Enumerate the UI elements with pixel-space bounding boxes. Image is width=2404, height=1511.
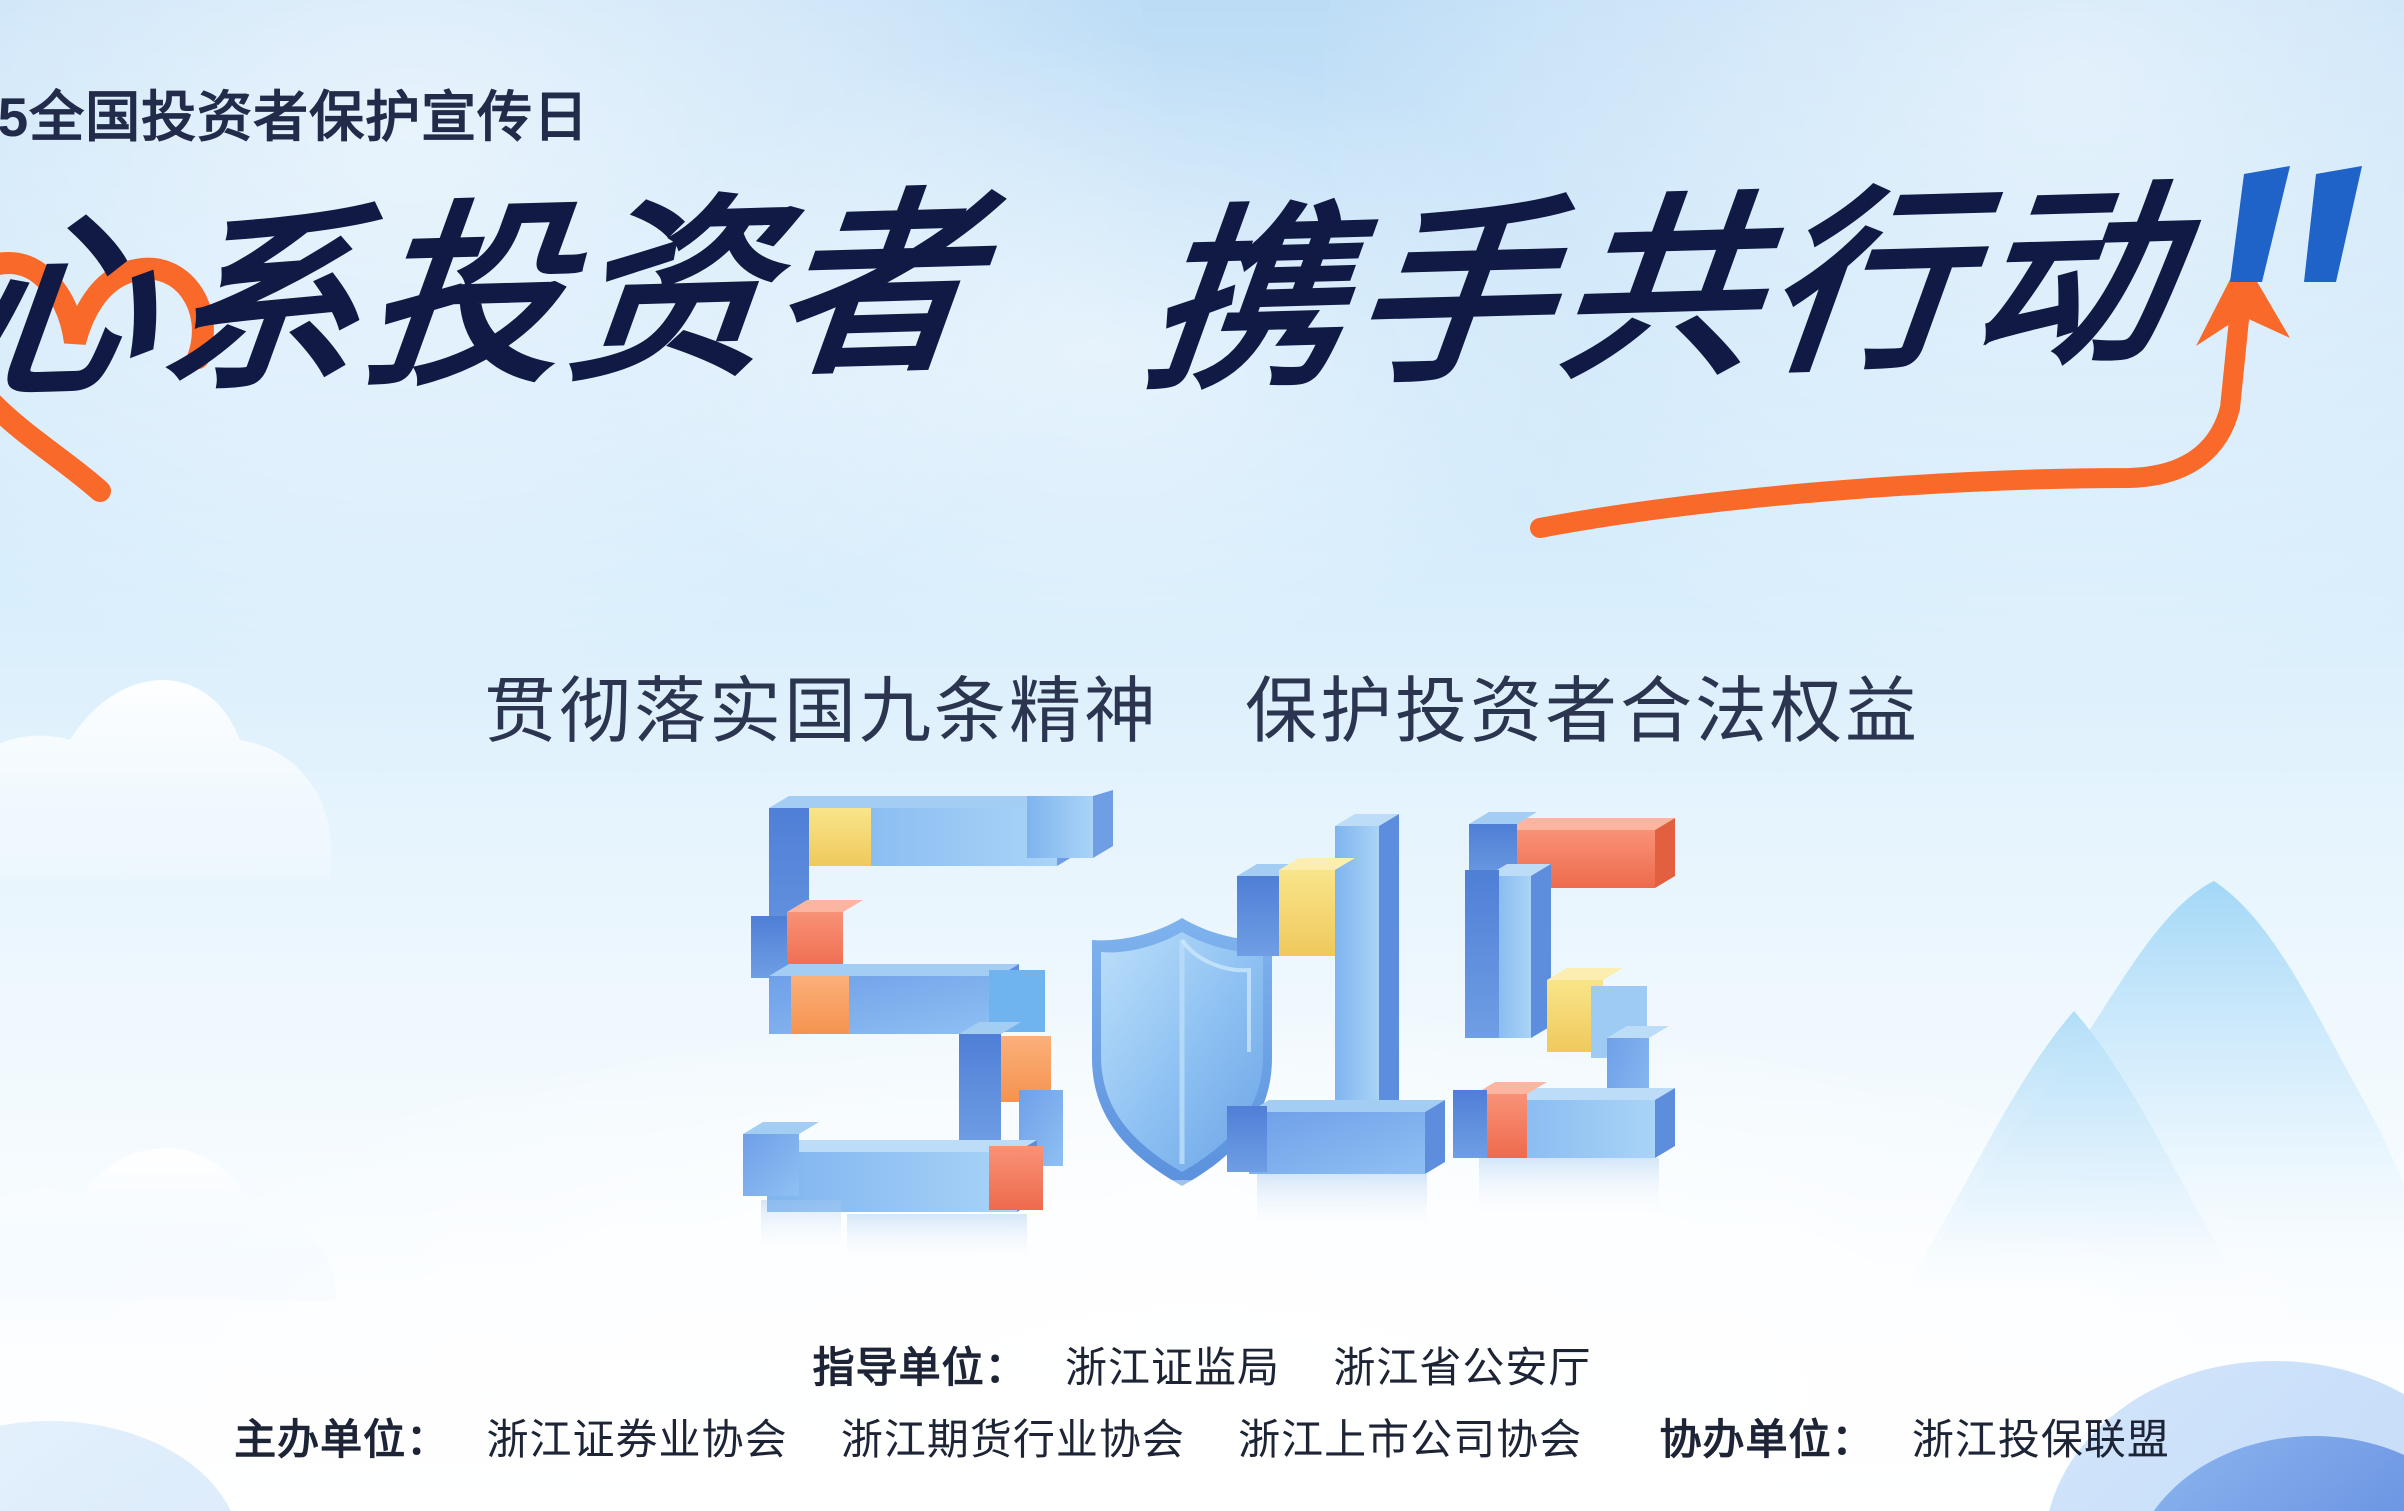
credit-label-coorganizer: 协办单位： bbox=[1660, 1416, 1875, 1463]
headline-phrase-1: 心系投资者 bbox=[0, 188, 993, 412]
subtitle: 贯彻落实国九条精神 保护投资者合法权益 bbox=[0, 652, 2404, 757]
mountain-decoration-far-right bbox=[1894, 971, 2254, 1301]
logo-digit-5-right bbox=[1453, 812, 1675, 1216]
credit-value-guidance-1: 浙江证监局 bbox=[1065, 1344, 1280, 1391]
subtitle-left: 贯彻落实国九条精神 bbox=[484, 672, 1159, 752]
logo-digit-5 bbox=[743, 790, 1113, 1264]
credit-value-host-2: 浙江期货行业协会 bbox=[841, 1416, 1185, 1463]
headline-block: 心系投资者 携手共行动 bbox=[0, 168, 2404, 588]
credit-label-guidance: 指导单位： bbox=[813, 1344, 1028, 1391]
credit-line-host: 主办单位： 浙江证券业协会 浙江期货行业协会 浙江上市公司协会 协办单位： 浙江… bbox=[0, 1404, 2404, 1475]
credits-block: 指导单位： 浙江证监局 浙江省公安厅 主办单位： 浙江证券业协会 浙江期货行业协… bbox=[0, 1332, 2404, 1475]
headline-phrase-2: 携手共行动 bbox=[1137, 180, 2193, 405]
quote-mark-icon bbox=[2204, 156, 2394, 356]
mountain-decoration-right bbox=[1884, 851, 2404, 1321]
page-title: 15全国投资者保护宣传日 bbox=[0, 72, 589, 152]
credit-value-guidance-2: 浙江省公安厅 bbox=[1333, 1344, 1591, 1391]
poster-canvas: 15全国投资者保护宣传日 心系投资者 携手共行动 贯彻落实国九条精神 保护投资者… bbox=[0, 0, 2404, 1511]
credit-value-host-3: 浙江上市公司协会 bbox=[1238, 1416, 1582, 1463]
subtitle-right: 保护投资者合法权益 bbox=[1245, 672, 1920, 752]
credit-value-coorganizer-1: 浙江投保联盟 bbox=[1912, 1416, 2170, 1463]
logo-515 bbox=[727, 790, 1677, 1290]
credit-label-host: 主办单位： bbox=[234, 1416, 449, 1463]
cloud-decoration-lower-left bbox=[0, 1071, 340, 1301]
credit-line-guidance: 指导单位： 浙江证监局 浙江省公安厅 bbox=[0, 1332, 2404, 1403]
credit-value-host-1: 浙江证券业协会 bbox=[486, 1416, 787, 1463]
